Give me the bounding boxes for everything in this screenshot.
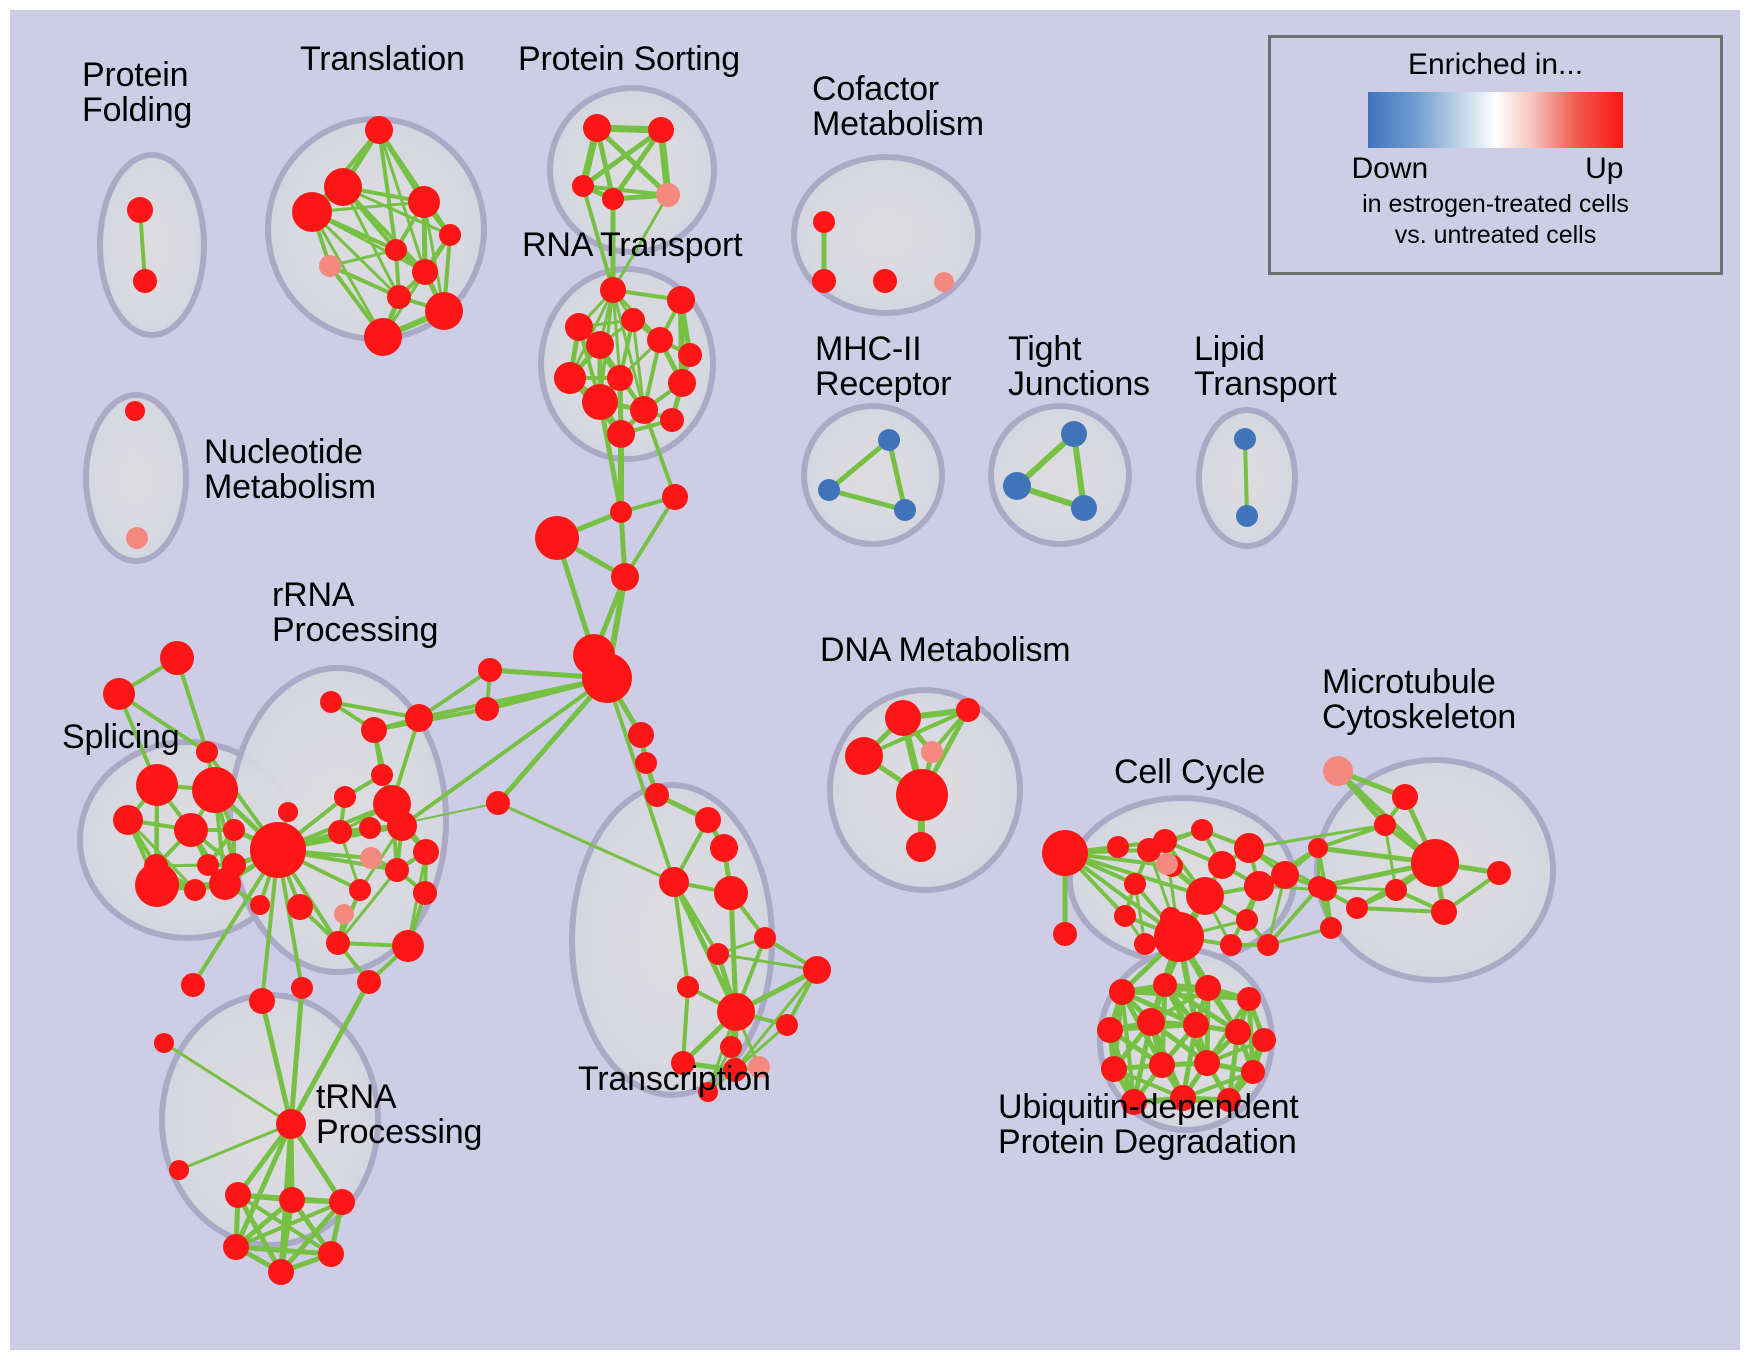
network-node[interactable] [1003, 472, 1031, 500]
network-node[interactable] [329, 1189, 355, 1215]
network-node[interactable] [486, 791, 510, 815]
network-node[interactable] [1320, 917, 1342, 939]
network-node[interactable] [1042, 830, 1088, 876]
cluster-label-splicing: Splicing [62, 720, 179, 755]
network-node[interactable] [600, 277, 626, 303]
network-node[interactable] [1156, 853, 1178, 875]
network-node[interactable] [1137, 838, 1161, 862]
network-node[interactable] [1237, 987, 1261, 1011]
network-node[interactable] [776, 1014, 798, 1036]
network-node[interactable] [1061, 421, 1087, 447]
network-node[interactable] [125, 401, 145, 421]
network-node[interactable] [1195, 975, 1221, 1001]
network-node[interactable] [667, 286, 695, 314]
cluster-label-cofactor-metabolism: Cofactor Metabolism [812, 72, 984, 141]
network-node[interactable] [1137, 1008, 1165, 1036]
network-node[interactable] [154, 1033, 174, 1053]
network-node[interactable] [635, 752, 657, 774]
network-node[interactable] [250, 895, 270, 915]
network-node[interactable] [478, 658, 502, 682]
network-node[interactable] [184, 879, 206, 901]
network-node[interactable] [292, 192, 332, 232]
network-node[interactable] [174, 813, 208, 847]
figure-canvas: Protein FoldingTranslationProtein Sortin… [0, 0, 1750, 1360]
cluster-label-lipid-transport: Lipid Transport [1194, 332, 1336, 401]
network-node[interactable] [385, 239, 407, 261]
cluster-label-microtubule-cytoskeleton: Microtubule Cytoskeleton [1322, 665, 1516, 734]
network-node[interactable] [223, 819, 245, 841]
network-node[interactable] [621, 308, 645, 332]
network-node[interactable] [392, 930, 424, 962]
network-node[interactable] [334, 786, 356, 808]
cluster-label-ubiquitin-dependent-protein-degradation: Ubiquitin-dependent Protein Degradation [998, 1090, 1299, 1159]
network-node[interactable] [707, 943, 729, 965]
network-node[interactable] [287, 894, 313, 920]
network-node[interactable] [1208, 851, 1236, 879]
legend-subtitle-line1: in estrogen-treated cells [1271, 190, 1720, 219]
network-node[interactable] [630, 396, 658, 424]
cluster-label-cell-cycle: Cell Cycle [1114, 755, 1265, 790]
network-node[interactable] [439, 224, 461, 246]
network-node[interactable] [1183, 1012, 1209, 1038]
network-node[interactable] [1149, 1052, 1175, 1078]
network-node[interactable] [607, 365, 633, 391]
network-node[interactable] [607, 420, 635, 448]
network-node[interactable] [1346, 897, 1368, 919]
network-node[interactable] [803, 956, 831, 984]
legend-title: Enriched in... [1271, 48, 1720, 82]
network-node[interactable] [475, 697, 499, 721]
network-node[interactable] [554, 362, 586, 394]
network-node[interactable] [695, 807, 721, 833]
network-node[interactable] [1071, 495, 1097, 521]
network-node[interactable] [279, 1187, 305, 1213]
network-node[interactable] [181, 973, 205, 997]
network-node[interactable] [278, 802, 298, 822]
network-node[interactable] [1101, 1056, 1127, 1082]
network-node[interactable] [276, 1109, 306, 1139]
network-node[interactable] [812, 269, 836, 293]
network-node[interactable] [320, 691, 342, 713]
network-node[interactable] [326, 931, 350, 955]
network-node[interactable] [1308, 838, 1328, 858]
network-node[interactable] [906, 832, 936, 862]
network-node[interactable] [602, 188, 624, 210]
network-node[interactable] [660, 408, 684, 432]
cluster-ellipse[interactable] [572, 785, 772, 1095]
network-node[interactable] [371, 764, 393, 786]
network-node[interactable] [250, 822, 306, 878]
network-node[interactable] [319, 255, 341, 277]
network-node[interactable] [1234, 833, 1264, 863]
network-node[interactable] [365, 116, 393, 144]
network-node[interactable] [385, 858, 409, 882]
network-node[interactable] [662, 484, 688, 510]
network-node[interactable] [873, 269, 897, 293]
network-node[interactable] [1114, 905, 1136, 927]
legend-up-label: Up [1585, 152, 1623, 186]
network-node[interactable] [1244, 871, 1274, 901]
network-node[interactable] [324, 168, 362, 206]
legend-color-bar [1368, 92, 1623, 148]
network-node[interactable] [1411, 839, 1459, 887]
cluster-label-trna-processing: tRNA Processing [316, 1080, 482, 1149]
network-node[interactable] [677, 976, 699, 998]
network-node[interactable] [1107, 836, 1129, 858]
network-node[interactable] [1053, 922, 1077, 946]
network-node[interactable] [1487, 861, 1511, 885]
network-node[interactable] [1236, 909, 1258, 931]
network-node[interactable] [387, 285, 411, 309]
network-node[interactable] [1194, 1050, 1220, 1076]
network-node[interactable] [1134, 933, 1156, 955]
network-node[interactable] [535, 516, 579, 560]
network-node[interactable] [412, 259, 438, 285]
network-node[interactable] [813, 211, 835, 233]
network-node[interactable] [364, 318, 402, 356]
network-node[interactable] [582, 653, 632, 703]
network-node[interactable] [196, 741, 218, 763]
network-node[interactable] [628, 722, 654, 748]
network-node[interactable] [1252, 1028, 1276, 1052]
legend-subtitle-line2: vs. untreated cells [1271, 221, 1720, 250]
network-node[interactable] [1308, 876, 1330, 898]
cluster-ellipse[interactable] [100, 155, 204, 335]
network-node[interactable] [1241, 1060, 1265, 1084]
legend-box: Enriched in... Down Up in estrogen-treat… [1268, 35, 1723, 275]
network-node[interactable] [659, 867, 689, 897]
network-node[interactable] [249, 988, 275, 1014]
cluster-label-nucleotide-metabolism: Nucleotide Metabolism [204, 435, 376, 504]
cluster-label-transcription: Transcription [578, 1062, 771, 1097]
legend-down-label: Down [1352, 152, 1429, 186]
network-node[interactable] [133, 269, 157, 293]
network-node[interactable] [818, 479, 840, 501]
network-node[interactable] [135, 863, 179, 907]
network-node[interactable] [1154, 912, 1204, 962]
network-node[interactable] [1225, 1019, 1251, 1045]
cluster-label-dna-metabolism: DNA Metabolism [820, 633, 1070, 668]
network-node[interactable] [160, 641, 194, 675]
network-node[interactable] [359, 817, 381, 839]
network-node[interactable] [1234, 428, 1256, 450]
network-node[interactable] [360, 847, 382, 869]
network-node[interactable] [334, 904, 354, 924]
network-node[interactable] [225, 1182, 251, 1208]
network-node[interactable] [127, 197, 153, 223]
network-node[interactable] [710, 834, 738, 862]
network-node[interactable] [113, 805, 143, 835]
network-node[interactable] [714, 876, 748, 910]
network-node[interactable] [136, 764, 178, 806]
network-node[interactable] [894, 499, 916, 521]
network-node[interactable] [656, 183, 680, 207]
network-node[interactable] [103, 678, 135, 710]
network-node[interactable] [1153, 973, 1177, 997]
network-node[interactable] [1220, 934, 1242, 956]
network-node[interactable] [956, 698, 980, 722]
network-node[interactable] [896, 769, 948, 821]
network-node[interactable] [1191, 819, 1213, 841]
cluster-label-rrna-processing: rRNA Processing [272, 578, 438, 647]
cluster-label-tight-junctions: Tight Junctions [1008, 332, 1150, 401]
network-node[interactable] [611, 563, 639, 591]
cluster-label-rna-transport: RNA Transport [522, 228, 742, 263]
network-node[interactable] [586, 331, 614, 359]
network-node[interactable] [223, 1234, 249, 1260]
network-node[interactable] [1431, 899, 1457, 925]
network-node[interactable] [1385, 879, 1407, 901]
network-node[interactable] [126, 527, 148, 549]
network-node[interactable] [413, 881, 437, 905]
cluster-label-protein-folding: Protein Folding [82, 58, 192, 127]
network-node[interactable] [169, 1160, 189, 1180]
network-node[interactable] [192, 767, 238, 813]
network-node[interactable] [582, 384, 618, 420]
network-node[interactable] [572, 175, 594, 197]
network-node[interactable] [583, 114, 611, 142]
network-node[interactable] [647, 327, 673, 353]
network-node[interactable] [1236, 505, 1258, 527]
network-node[interactable] [1392, 784, 1418, 810]
network-node[interactable] [934, 272, 954, 292]
cluster-label-translation: Translation [300, 42, 465, 77]
network-node[interactable] [349, 879, 371, 901]
edge [1245, 439, 1247, 516]
network-node[interactable] [1257, 934, 1279, 956]
network-node[interactable] [645, 783, 669, 807]
network-node[interactable] [717, 993, 755, 1031]
network-node[interactable] [209, 868, 241, 900]
network-node[interactable] [328, 820, 352, 844]
network-node[interactable] [648, 117, 674, 143]
cluster-label-protein-sorting: Protein Sorting [518, 42, 740, 77]
network-node[interactable] [668, 369, 696, 397]
network-node[interactable] [845, 737, 883, 775]
network-node[interactable] [361, 717, 387, 743]
network-node[interactable] [1186, 877, 1224, 915]
network-node[interactable] [357, 970, 381, 994]
network-node[interactable] [1271, 861, 1299, 889]
network-node[interactable] [754, 927, 776, 949]
network-node[interactable] [1323, 756, 1353, 786]
cluster-label-mhc-ii-receptor: MHC-II Receptor [815, 332, 951, 401]
network-node[interactable] [425, 292, 463, 330]
network-node[interactable] [1374, 814, 1396, 836]
network-node[interactable] [885, 700, 921, 736]
network-node[interactable] [1124, 873, 1146, 895]
legend-endpoints: Down Up [1346, 152, 1646, 188]
network-node[interactable] [1097, 1017, 1123, 1043]
network-node[interactable] [678, 343, 702, 367]
network-node[interactable] [408, 186, 440, 218]
network-node[interactable] [610, 501, 632, 523]
network-node[interactable] [318, 1241, 344, 1267]
cluster-ellipse[interactable] [804, 406, 942, 544]
network-node[interactable] [387, 811, 417, 841]
network-node[interactable] [291, 977, 313, 999]
network-node[interactable] [878, 429, 900, 451]
network-node[interactable] [720, 1036, 742, 1058]
network-node[interactable] [1109, 979, 1135, 1005]
network-node[interactable] [921, 741, 943, 763]
network-node[interactable] [268, 1259, 294, 1285]
network-node[interactable] [413, 839, 439, 865]
network-node[interactable] [405, 704, 433, 732]
